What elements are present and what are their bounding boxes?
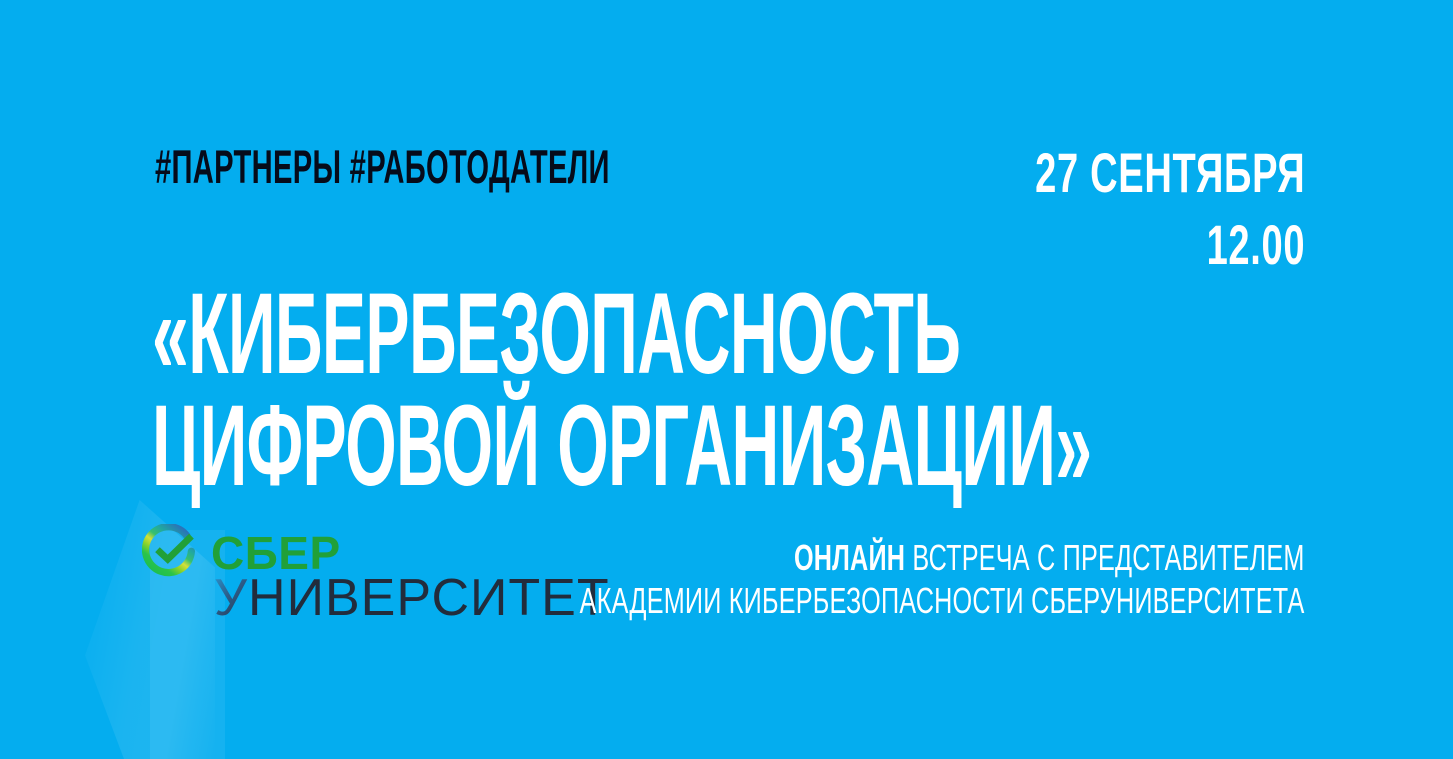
sber-checkmark-logomark-icon bbox=[142, 524, 198, 580]
event-date-block: 27 СЕНТЯБРЯ 12.00 bbox=[908, 138, 1305, 282]
description-line-1: ОНЛАЙН ВСТРЕЧА С ПРЕДСТАВИТЕЛЕМ bbox=[580, 536, 1305, 579]
event-time: 12.00 bbox=[1035, 208, 1305, 282]
hashtags-label: #ПАРТНЕРЫ #РАБОТОДАТЕЛИ bbox=[155, 143, 610, 190]
page-title: «КИБЕРБЕЗОПАСНОСТЬ ЦИФРОВОЙ ОРГАНИЗАЦИИ» bbox=[152, 278, 1453, 502]
university-wordmark-first-letter: У bbox=[214, 569, 248, 627]
description-format-label: ОНЛАЙН bbox=[794, 537, 905, 578]
title-line-1: «КИБЕРБЕЗОПАСНОСТЬ bbox=[152, 278, 1092, 390]
event-description: ОНЛАЙН ВСТРЕЧА С ПРЕДСТАВИТЕЛЕМ АКАДЕМИИ… bbox=[269, 536, 1305, 622]
description-line-1-rest: ВСТРЕЧА С ПРЕДСТАВИТЕЛЕМ bbox=[906, 537, 1305, 578]
title-line-2: ЦИФРОВОЙ ОРГАНИЗАЦИИ» bbox=[152, 390, 1092, 502]
description-line-2: АКАДЕМИИ КИБЕРБЕЗОПАСНОСТИ СБЕРУНИВЕРСИТ… bbox=[580, 579, 1305, 622]
event-date: 27 СЕНТЯБРЯ bbox=[1035, 138, 1305, 208]
event-banner: #ПАРТНЕРЫ #РАБОТОДАТЕЛИ 27 СЕНТЯБРЯ 12.0… bbox=[0, 0, 1453, 759]
